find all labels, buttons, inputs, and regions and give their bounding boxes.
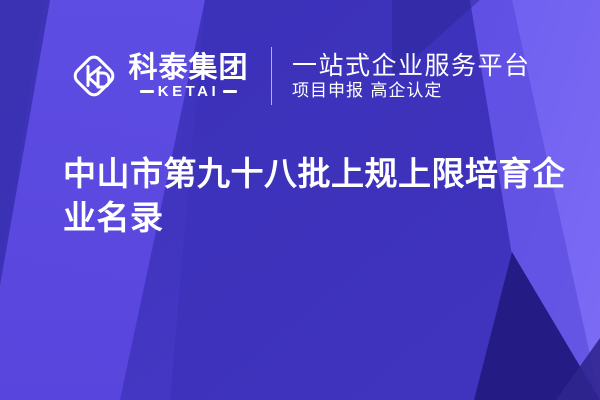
tagline-primary: 一站式企业服务平台 [292, 53, 531, 78]
dash-left-icon [140, 90, 154, 93]
ketai-diamond-kd-icon [69, 51, 119, 101]
brand-name-en: KETAI [158, 84, 219, 99]
promo-banner: 科泰集团 KETAI 一站式企业服务平台 项目申报 高企认定 中山市第九十八批上… [0, 0, 600, 400]
brand-logo: 科泰集团 KETAI [69, 51, 248, 101]
page-title: 中山市第九十八批上规上限培育企业名录 [63, 152, 568, 240]
header-divider [271, 47, 273, 105]
tagline-block: 一站式企业服务平台 项目申报 高企认定 [292, 53, 531, 100]
tagline-secondary: 项目申报 高企认定 [292, 83, 531, 100]
banner-header: 科泰集团 KETAI 一站式企业服务平台 项目申报 高企认定 [0, 38, 600, 114]
dash-right-icon [223, 90, 237, 93]
brand-name-en-row: KETAI [128, 84, 248, 99]
brand-name-cn: 科泰集团 [128, 53, 248, 82]
brand-wordmark: 科泰集团 KETAI [128, 53, 248, 99]
